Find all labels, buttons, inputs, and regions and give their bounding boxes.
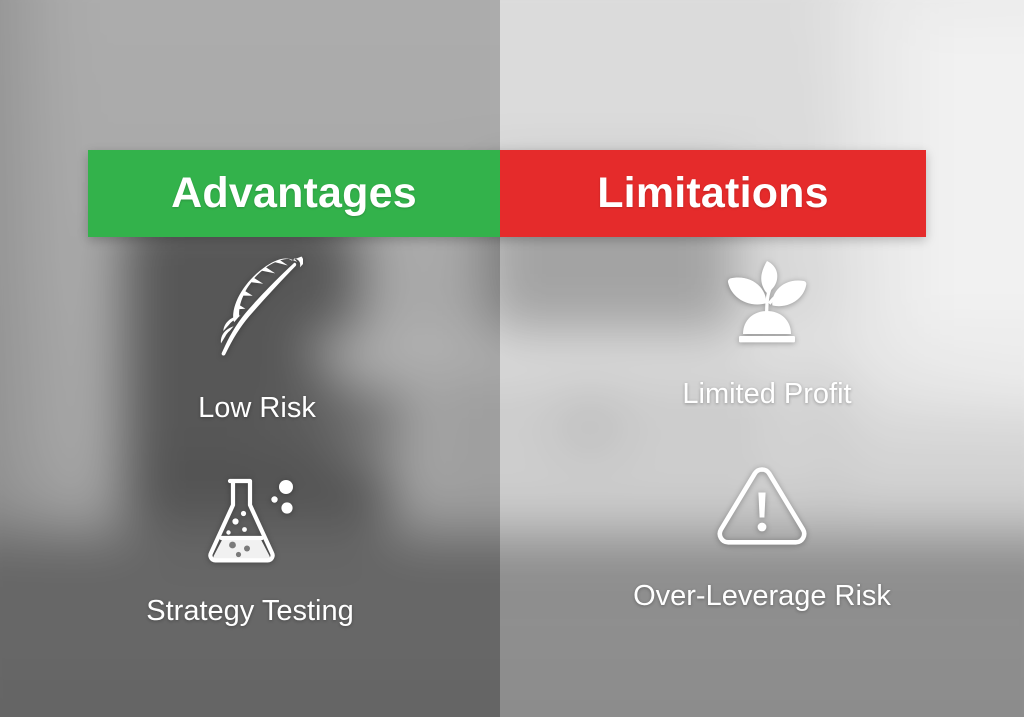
advantages-column: Low Risk xyxy=(0,255,500,626)
flask-icon xyxy=(202,475,298,572)
warning-triangle-icon xyxy=(712,461,812,556)
feature-label-limited-profit: Limited Profit xyxy=(682,380,851,409)
feature-strategy-testing: Strategy Testing xyxy=(146,475,353,626)
banner-row: Advantages Limitations xyxy=(88,150,926,237)
feature-label-low-risk: Low Risk xyxy=(198,394,316,423)
feature-low-risk: Low Risk xyxy=(198,255,316,423)
feature-over-leverage-risk: Over-Leverage Risk xyxy=(633,461,891,611)
limitations-title: Limitations xyxy=(597,172,829,215)
comparison-infographic: Advantages Limitations xyxy=(0,0,1024,717)
feature-label-over-leverage-risk: Over-Leverage Risk xyxy=(633,582,891,611)
limitations-column: Limited Profit Over-Leverage Risk xyxy=(500,255,1024,626)
advantages-title: Advantages xyxy=(171,172,417,215)
limitations-banner: Limitations xyxy=(500,150,926,237)
seedling-icon xyxy=(719,255,815,352)
feature-limited-profit: Limited Profit xyxy=(682,255,851,409)
feather-icon xyxy=(211,255,303,370)
advantages-banner: Advantages xyxy=(88,150,500,237)
feature-columns: Low Risk xyxy=(0,255,1024,626)
feature-label-strategy-testing: Strategy Testing xyxy=(146,597,353,626)
